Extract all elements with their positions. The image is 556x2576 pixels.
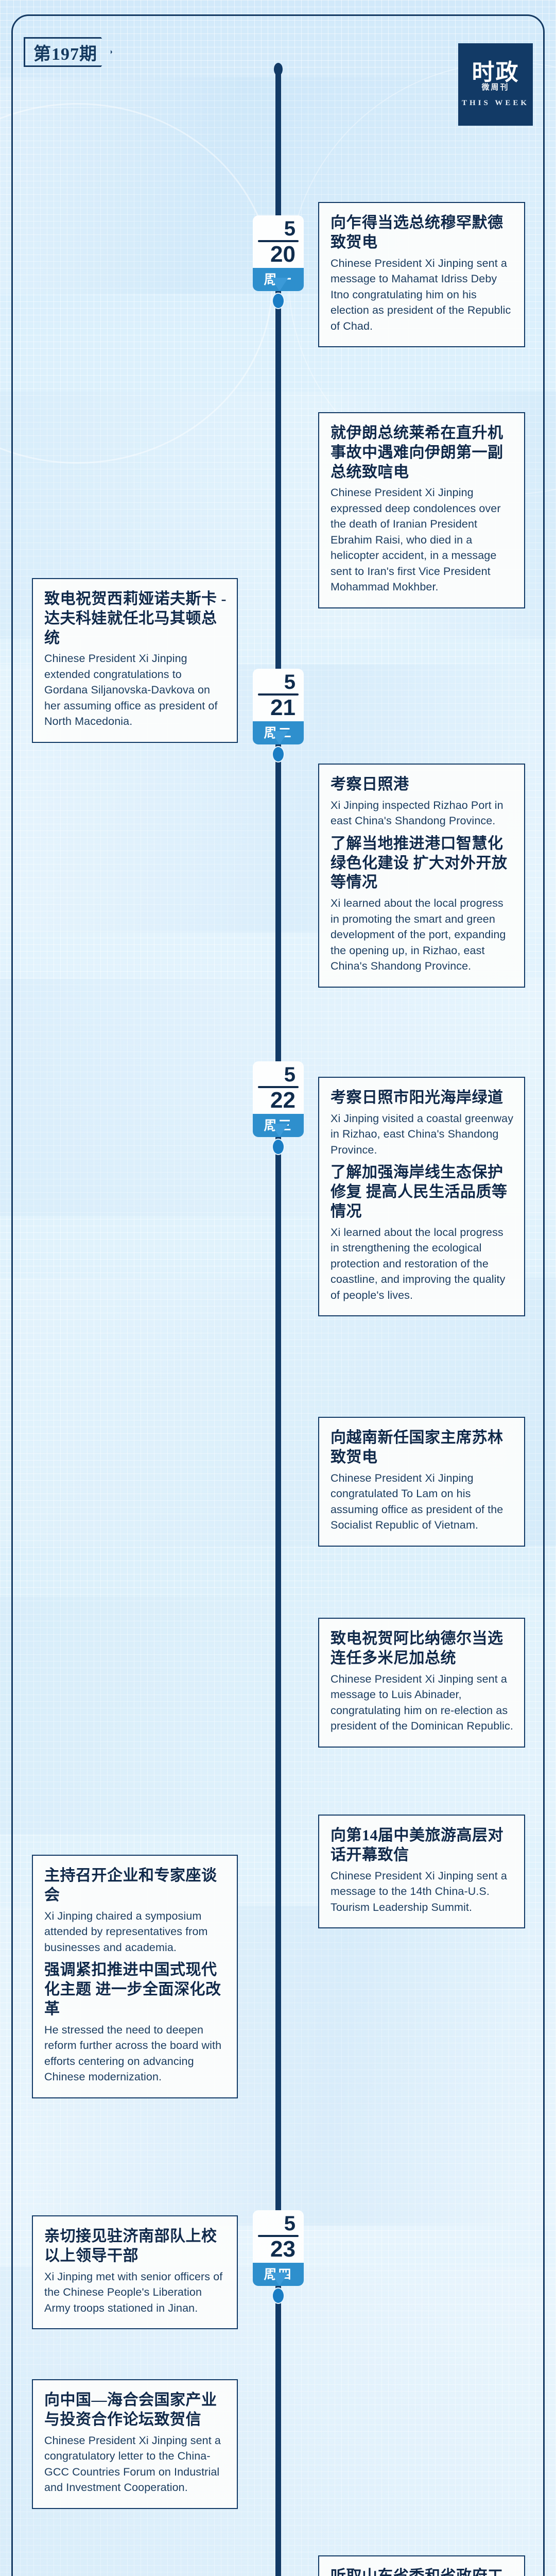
news-card-body-en: Chinese President Xi Jinping sent a mess… — [331, 1868, 514, 1916]
news-card[interactable]: 向乍得当选总统穆罕默德致贺电Chinese President Xi Jinpi… — [318, 202, 525, 347]
issue-badge: 第197期 — [24, 37, 112, 67]
date-badge-top: 523 — [253, 2210, 304, 2263]
poster-page: 第197期 时政 微周刊 THIS WEEK 520周一向乍得当选总统穆罕默德致… — [0, 0, 556, 2576]
date-month: 5 — [258, 672, 299, 692]
news-card-title-zh: 向越南新任国家主席苏林致贺电 — [331, 1428, 514, 1467]
timeline-node-dot — [272, 2287, 285, 2304]
date-badge-5-23: 523周四 — [253, 2210, 304, 2286]
timeline-node-dot — [272, 746, 285, 762]
date-badge-top: 520 — [253, 215, 304, 268]
news-card[interactable]: 就伊朗总统莱希在直升机事故中遇难向伊朗第一副总统致唁电Chinese Presi… — [318, 412, 525, 608]
date-day: 21 — [258, 697, 299, 719]
timeline-node-dot — [272, 1139, 285, 1155]
news-card-body-en: Chinese President Xi Jinping sent a mess… — [331, 1671, 514, 1734]
date-month: 5 — [258, 219, 299, 239]
news-card[interactable]: 向第14届中美旅游高层对话开幕致信Chinese President Xi Ji… — [318, 1815, 525, 1928]
decorative-arc — [0, 103, 273, 464]
news-card-body-en: He stressed the need to deepen reform fu… — [44, 2022, 227, 2085]
date-month: 5 — [258, 1065, 299, 1084]
date-pointer-icon — [271, 731, 288, 744]
news-card[interactable]: 向中国—海合会国家产业与投资合作论坛致贺信Chinese President X… — [32, 2379, 238, 2509]
timeline-spine — [275, 64, 281, 2576]
date-badge-5-22: 522周三 — [253, 1061, 304, 1137]
news-card-title-zh: 主持召开企业和专家座谈会 — [44, 1866, 227, 1905]
date-badge-5-21: 521周二 — [253, 669, 304, 744]
news-card-body-en: Chinese President Xi Jinping sent a mess… — [331, 256, 514, 334]
date-day: 20 — [258, 243, 299, 266]
date-day: 23 — [258, 2238, 299, 2261]
news-card-body-en: Chinese President Xi Jinping congratulat… — [331, 1470, 514, 1533]
news-card-body-en: Xi Jinping met with senior officers of t… — [44, 2269, 227, 2316]
news-card-title-zh: 听取山东省委和省政府工作汇报 — [331, 2567, 514, 2576]
news-card-title-zh: 考察日照市阳光海岸绿道 — [331, 1088, 514, 1108]
news-card[interactable]: 致电祝贺阿比纳德尔当选连任多米尼加总统Chinese President Xi … — [318, 1618, 525, 1748]
news-card-title-zh: 致电祝贺阿比纳德尔当选连任多米尼加总统 — [331, 1629, 514, 1668]
news-card[interactable]: 听取山东省委和省政府工作汇报Xi Jinping listened to the… — [318, 2555, 525, 2576]
news-card-body-en: Xi Jinping chaired a symposium attended … — [44, 1908, 227, 1956]
news-card-body-en: Chinese President Xi Jinping extended co… — [44, 651, 227, 730]
news-card-body-en: Xi learned about the local progress in p… — [331, 895, 514, 974]
news-card-title-zh: 向中国—海合会国家产业与投资合作论坛致贺信 — [44, 2391, 227, 2430]
date-pointer-icon — [271, 278, 288, 291]
news-card-body-en: Xi Jinping inspected Rizhao Port in east… — [331, 798, 514, 829]
news-card[interactable]: 考察日照港Xi Jinping inspected Rizhao Port in… — [318, 764, 525, 988]
news-card-title-zh: 致电祝贺西莉娅诺夫斯卡 - 达夫科娃就任北马其顿总统 — [44, 589, 227, 648]
date-pointer-icon — [271, 1124, 288, 1137]
news-card[interactable]: 主持召开企业和专家座谈会Xi Jinping chaired a symposi… — [32, 1855, 238, 2098]
date-badge-top: 522 — [253, 1061, 304, 1114]
news-card-title-zh: 向第14届中美旅游高层对话开幕致信 — [331, 1826, 514, 1865]
news-card-body-en: Xi Jinping visited a coastal greenway in… — [331, 1111, 514, 1158]
news-card-title-zh: 亲切接见驻济南部队上校以上领导干部 — [44, 2227, 227, 2266]
date-pointer-icon — [271, 2273, 288, 2286]
news-card[interactable]: 致电祝贺西莉娅诺夫斯卡 - 达夫科娃就任北马其顿总统Chinese Presid… — [32, 578, 238, 743]
date-day: 22 — [258, 1089, 299, 1112]
brand-logo-title-en: THIS WEEK — [462, 99, 529, 108]
news-card-body-en: Chinese President Xi Jinping expressed d… — [331, 485, 514, 595]
issue-label: 第197期 — [33, 40, 97, 65]
news-card-title-zh: 就伊朗总统莱希在直升机事故中遇难向伊朗第一副总统致唁电 — [331, 423, 514, 482]
brand-logo: 时政 微周刊 THIS WEEK — [458, 43, 533, 126]
date-badge-top: 521 — [253, 669, 304, 721]
date-badge-5-20: 520周一 — [253, 215, 304, 291]
date-month: 5 — [258, 2214, 299, 2233]
news-card-title-zh: 向乍得当选总统穆罕默德致贺电 — [331, 213, 514, 252]
news-card[interactable]: 亲切接见驻济南部队上校以上领导干部Xi Jinping met with sen… — [32, 2215, 238, 2329]
news-card-title-zh: 考察日照港 — [331, 775, 514, 794]
brand-logo-subtitle-cn: 微周刊 — [481, 83, 509, 92]
brand-logo-title-cn: 时政 — [472, 61, 519, 83]
news-card-body-en: Chinese President Xi Jinping sent a cong… — [44, 2433, 227, 2496]
news-card-title-zh: 了解当地推进港口智慧化绿色化建设 扩大对外开放等情况 — [331, 834, 514, 892]
news-card-title-zh: 强调紧扣推进中国式现代化主题 进一步全面深化改革 — [44, 1960, 227, 2019]
timeline-node-dot — [272, 293, 285, 309]
news-card[interactable]: 向越南新任国家主席苏林致贺电Chinese President Xi Jinpi… — [318, 1417, 525, 1547]
news-card-title-zh: 了解加强海岸线生态保护修复 提高人民生活品质等情况 — [331, 1163, 514, 1221]
news-card-body-en: Xi learned about the local progress in s… — [331, 1225, 514, 1303]
news-card[interactable]: 考察日照市阳光海岸绿道Xi Jinping visited a coastal … — [318, 1077, 525, 1316]
